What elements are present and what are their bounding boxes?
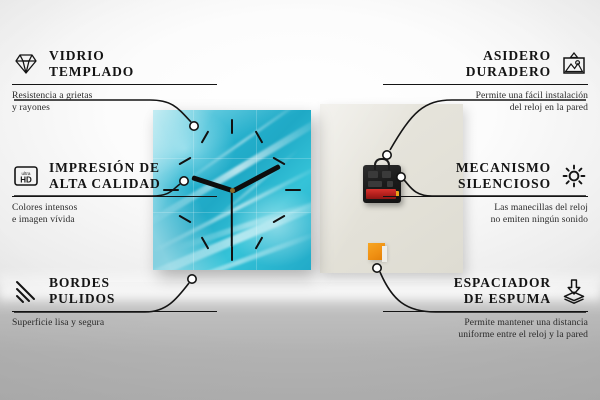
feature-description: Colores intensos e imagen vívida: [12, 202, 217, 225]
feature-title: VIDRIO TEMPLADO: [49, 48, 134, 79]
feature-header: BORDES PULIDOS: [12, 275, 217, 306]
feature-divider: [383, 84, 588, 85]
feature-header: MECANISMO SILENCIOSO: [383, 160, 588, 191]
feature-header: ASIDERO DURADERO: [383, 48, 588, 79]
gear-icon: [560, 163, 588, 189]
feature-header: VIDRIO TEMPLADO: [12, 48, 217, 79]
feature-description: Resistencia a grietas y rayones: [12, 90, 217, 113]
feature-title: ASIDERO DURADERO: [466, 48, 551, 79]
svg-text:HD: HD: [20, 175, 32, 184]
wall-hanger-picture-icon: [560, 51, 588, 77]
feature-divider: [12, 196, 217, 197]
feature-title: MECANISMO SILENCIOSO: [456, 160, 551, 191]
feature-divider: [12, 311, 217, 312]
ultra-hd-badge-icon: ultra HD: [12, 163, 40, 189]
feature-description: Permite una fácil instalación del reloj …: [383, 90, 588, 113]
feature-bordes-pulidos[interactable]: BORDES PULIDOS Superficie lisa y segura: [12, 275, 217, 329]
feature-divider: [12, 84, 217, 85]
feature-asidero-duradero[interactable]: ASIDERO DURADERO Permite una fácil insta…: [383, 48, 588, 114]
feature-header: ultra HD IMPRESIÓN DE ALTA CALIDAD: [12, 160, 217, 191]
feature-impresion-alta-calidad[interactable]: ultra HD IMPRESIÓN DE ALTA CALIDAD Color…: [12, 160, 217, 226]
feature-title: BORDES PULIDOS: [49, 275, 115, 306]
feature-vidrio-templado[interactable]: VIDRIO TEMPLADO Resistencia a grietas y …: [12, 48, 217, 114]
feature-mecanismo-silencioso[interactable]: MECANISMO SILENCIOSO Las manecillas del …: [383, 160, 588, 226]
polished-edges-icon: [12, 278, 40, 304]
feature-divider: [383, 311, 588, 312]
diamond-icon: [12, 51, 40, 77]
infographic-canvas: VIDRIO TEMPLADO Resistencia a grietas y …: [0, 0, 600, 400]
feature-description: Las manecillas del reloj no emiten ningú…: [383, 202, 588, 225]
feature-header: ESPACIADOR DE ESPUMA: [383, 275, 588, 306]
feature-title: ESPACIADOR DE ESPUMA: [454, 275, 551, 306]
feature-description: Superficie lisa y segura: [12, 317, 217, 329]
feature-title: IMPRESIÓN DE ALTA CALIDAD: [49, 160, 161, 191]
foam-spacer-arrow-icon: [560, 278, 588, 304]
feature-espaciador-de-espuma[interactable]: ESPACIADOR DE ESPUMA Permite mantener un…: [383, 275, 588, 341]
feature-description: Permite mantener una distancia uniforme …: [383, 317, 588, 340]
feature-divider: [383, 196, 588, 197]
